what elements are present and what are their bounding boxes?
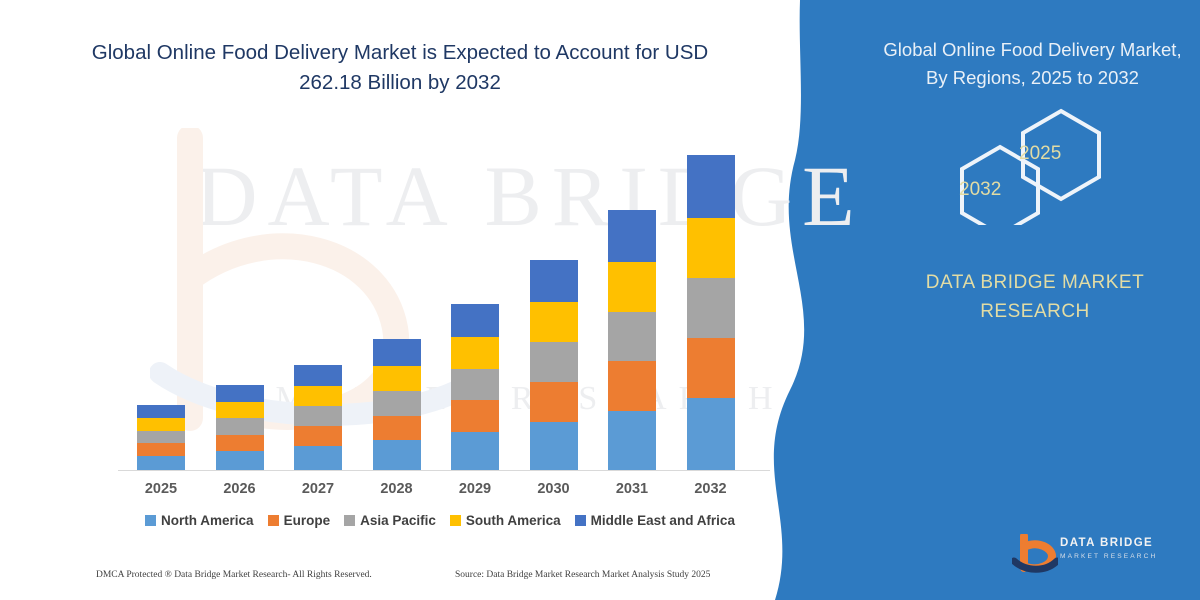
bar-segment[interactable] xyxy=(530,302,578,342)
brand-line-2: RESEARCH xyxy=(890,297,1180,326)
logo-b-mark-icon xyxy=(1012,534,1058,576)
bar-column-2028[interactable] xyxy=(373,339,421,470)
bar-segment[interactable] xyxy=(530,382,578,422)
bar-segment[interactable] xyxy=(137,418,185,430)
bar-segment[interactable] xyxy=(687,398,735,470)
legend-item[interactable]: Asia Pacific xyxy=(344,513,436,528)
legend-label: Middle East and Africa xyxy=(591,513,735,528)
legend-item[interactable]: Middle East and Africa xyxy=(575,513,735,528)
data-bridge-logo: DATA BRIDGE MARKET RESEARCH xyxy=(1012,532,1182,578)
hex-badge-2032: 2032 xyxy=(959,179,1001,201)
legend-label: Europe xyxy=(284,513,331,528)
hexagon-outlines-icon xyxy=(915,105,1115,225)
bar-column-2025[interactable] xyxy=(137,405,185,470)
bar-segment[interactable] xyxy=(530,260,578,302)
bar-segment[interactable] xyxy=(294,446,342,470)
bar-segment[interactable] xyxy=(373,440,421,470)
bar-column-2032[interactable] xyxy=(687,155,735,470)
bar-segment[interactable] xyxy=(608,361,656,411)
legend-item[interactable]: North America xyxy=(145,513,254,528)
bar-segment[interactable] xyxy=(373,416,421,441)
chart-legend: North AmericaEuropeAsia PacificSouth Ame… xyxy=(110,513,770,528)
bar-segment[interactable] xyxy=(294,365,342,386)
legend-swatch-icon xyxy=(344,515,355,526)
bar-segment[interactable] xyxy=(451,400,499,432)
legend-label: Asia Pacific xyxy=(360,513,436,528)
bar-segment[interactable] xyxy=(451,337,499,369)
bar-segment[interactable] xyxy=(294,406,342,426)
footer-copyright: DMCA Protected ® Data Bridge Market Rese… xyxy=(96,570,372,580)
bar-column-2027[interactable] xyxy=(294,365,342,470)
bar-column-2029[interactable] xyxy=(451,304,499,470)
bar-segment[interactable] xyxy=(687,218,735,278)
bar-segment[interactable] xyxy=(608,411,656,470)
bar-column-2026[interactable] xyxy=(216,385,264,470)
bar-segment[interactable] xyxy=(608,210,656,262)
legend-swatch-icon xyxy=(268,515,279,526)
bar-segment[interactable] xyxy=(137,431,185,443)
legend-swatch-icon xyxy=(450,515,461,526)
bar-segment[interactable] xyxy=(687,155,735,218)
legend-label: South America xyxy=(466,513,561,528)
bar-segment[interactable] xyxy=(608,312,656,362)
footer-source: Source: Data Bridge Market Research Mark… xyxy=(455,570,710,580)
hex-badge-2025: 2025 xyxy=(1019,143,1061,165)
bar-segment[interactable] xyxy=(137,443,185,455)
logo-subtitle-text: MARKET RESEARCH xyxy=(1060,553,1157,560)
bar-segment[interactable] xyxy=(451,369,499,401)
bar-segment[interactable] xyxy=(530,422,578,470)
brand-line-1: DATA BRIDGE MARKET xyxy=(890,268,1180,297)
bar-segment[interactable] xyxy=(216,385,264,402)
bar-segment[interactable] xyxy=(373,391,421,416)
legend-item[interactable]: Europe xyxy=(268,513,331,528)
legend-swatch-icon xyxy=(145,515,156,526)
bar-segment[interactable] xyxy=(137,405,185,418)
bar-segment[interactable] xyxy=(216,451,264,470)
bar-chart: 20252026202720282029203020312032 xyxy=(0,0,800,600)
bar-segment[interactable] xyxy=(294,426,342,446)
bar-segment[interactable] xyxy=(608,262,656,312)
legend-item[interactable]: South America xyxy=(450,513,561,528)
bar-segment[interactable] xyxy=(294,386,342,406)
bar-column-2030[interactable] xyxy=(530,260,578,470)
bar-segment[interactable] xyxy=(216,435,264,451)
bar-segment[interactable] xyxy=(451,304,499,337)
bar-segment[interactable] xyxy=(530,342,578,382)
logo-name-text: DATA BRIDGE xyxy=(1060,537,1153,549)
bar-segment[interactable] xyxy=(373,366,421,391)
bar-segment[interactable] xyxy=(216,418,264,434)
brand-name-block: DATA BRIDGE MARKET RESEARCH xyxy=(890,268,1180,326)
legend-swatch-icon xyxy=(575,515,586,526)
bar-segment[interactable] xyxy=(687,278,735,338)
panel-title: Global Online Food Delivery Market, By R… xyxy=(880,36,1185,92)
x-axis-label-2032: 2032 xyxy=(661,481,761,497)
x-axis-line xyxy=(118,470,770,471)
bar-segment[interactable] xyxy=(373,339,421,366)
infographic-root: DATA BRIDGE MARKET RESEARCH Global Onlin… xyxy=(0,0,1200,600)
bar-segment[interactable] xyxy=(216,402,264,418)
legend-label: North America xyxy=(161,513,254,528)
bar-segment[interactable] xyxy=(687,338,735,398)
bar-segment[interactable] xyxy=(137,456,185,470)
bar-segment[interactable] xyxy=(451,432,499,470)
bar-column-2031[interactable] xyxy=(608,210,656,470)
hexagon-badges: 2025 2032 xyxy=(915,105,1115,225)
